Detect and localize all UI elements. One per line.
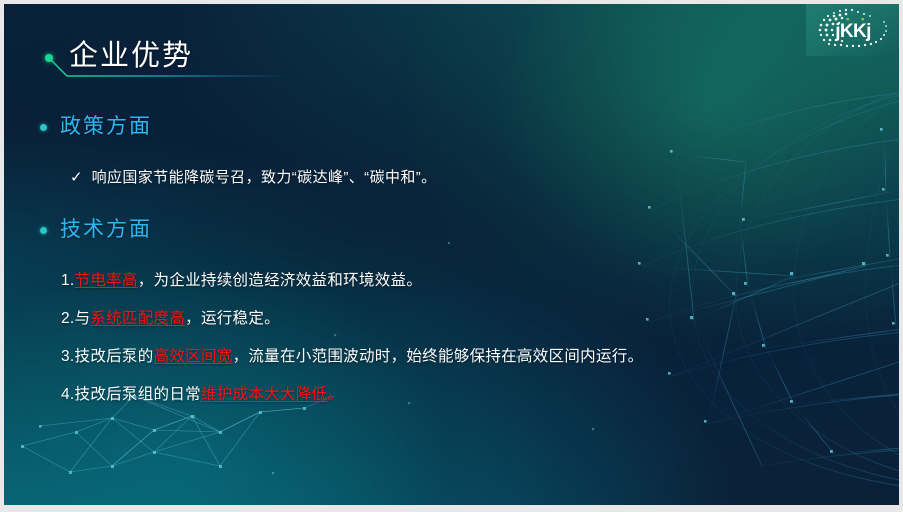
list-item-rest: ，流量在小范围波动时，始终能够保持在高效区间内运行。 — [233, 348, 644, 365]
list-item: 3.技改后泵的高效区间宽，流量在小范围波动时，始终能够保持在高效区间内运行。 — [61, 338, 881, 376]
list-item: 2.与系统匹配度高，运行稳定。 — [61, 300, 881, 338]
slide-frame: jKKj 企业优势 — [0, 0, 903, 512]
slide-canvas: jKKj 企业优势 — [4, 4, 899, 505]
list-item: 1.节电率高，为企业持续创造经济效益和环境效益。 — [61, 262, 881, 300]
bullet-dot-icon — [40, 124, 47, 131]
section-label-tech: 技术方面 — [60, 217, 152, 243]
policy-bullet-text: 响应国家节能降碳号召，致力“碳达峰”、“碳中和”。 — [92, 167, 437, 189]
list-item-number: 4. — [61, 386, 75, 403]
list-item: 4.技改后泵组的日常维护成本大大降低。 — [61, 376, 881, 414]
list-item-lead: 技改后泵的 — [75, 348, 154, 365]
section-label-policy: 政策方面 — [60, 114, 152, 140]
section-heading-tech: 技术方面 — [40, 217, 152, 243]
list-item-highlight: 维护成本大大降低 — [201, 386, 327, 403]
list-item-number: 3. — [61, 348, 75, 365]
section-heading-policy: 政策方面 — [40, 114, 152, 140]
list-item-number: 2. — [61, 310, 75, 327]
list-item-rest: ，运行稳定。 — [185, 310, 280, 327]
policy-bullet-line: ✓ 响应国家节能降碳号召，致力“碳达峰”、“碳中和”。 — [70, 167, 437, 189]
list-item-lead: 技改后泵组的日常 — [75, 386, 201, 403]
list-item-lead: 与 — [75, 310, 91, 327]
list-item-highlight: 高效区间宽 — [154, 348, 233, 365]
slide-content: 政策方面 ✓ 响应国家节能降碳号召，致力“碳达峰”、“碳中和”。 技术方面 1.… — [4, 4, 899, 505]
list-item-rest: 。 — [327, 386, 343, 403]
check-icon: ✓ — [70, 167, 83, 189]
list-item-number: 1. — [61, 272, 75, 289]
bullet-dot-icon — [40, 227, 47, 234]
tech-advantage-list: 1.节电率高，为企业持续创造经济效益和环境效益。 2.与系统匹配度高，运行稳定。… — [61, 262, 881, 414]
list-item-highlight: 节电率高 — [75, 272, 138, 289]
list-item-rest: ，为企业持续创造经济效益和环境效益。 — [138, 272, 422, 289]
list-item-highlight: 系统匹配度高 — [90, 310, 185, 327]
